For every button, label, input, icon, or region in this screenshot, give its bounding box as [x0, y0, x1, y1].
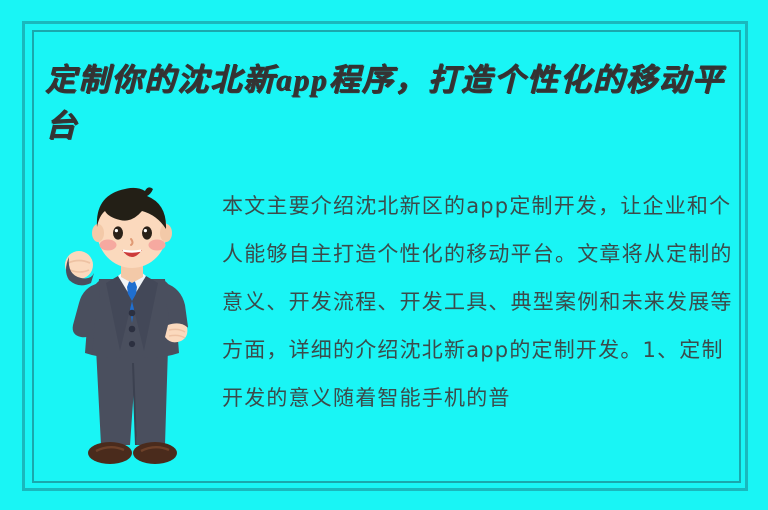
eye-left-highlight-icon: [115, 229, 118, 232]
eye-left-icon: [113, 226, 123, 239]
eye-right-icon: [142, 226, 152, 239]
blush-left-icon: [100, 240, 117, 251]
hand-on-hip-icon: [165, 323, 187, 342]
trousers-icon: [96, 348, 168, 445]
businessman-figure: [52, 183, 212, 483]
body-paragraph: 本文主要介绍沈北新区的app定制开发，让企业和个人能够自主打造个性化的移动平台。…: [222, 182, 744, 472]
blush-right-icon: [149, 240, 166, 251]
page-title: 定制你的沈北新app程序，打造个性化的移动平台: [45, 57, 745, 149]
shoe-left-icon: [88, 442, 132, 464]
jacket-button-1-icon: [129, 310, 136, 317]
jacket-button-2-icon: [129, 326, 136, 333]
poster-canvas: 定制你的沈北新app程序，打造个性化的移动平台: [0, 0, 768, 510]
teeth-icon: [123, 251, 141, 252]
eye-right-highlight-icon: [144, 229, 147, 232]
shoe-right-icon: [133, 442, 177, 464]
ear-left-icon: [92, 224, 104, 242]
illustration-businessman: [52, 183, 212, 483]
jacket-button-3-icon: [129, 341, 135, 347]
